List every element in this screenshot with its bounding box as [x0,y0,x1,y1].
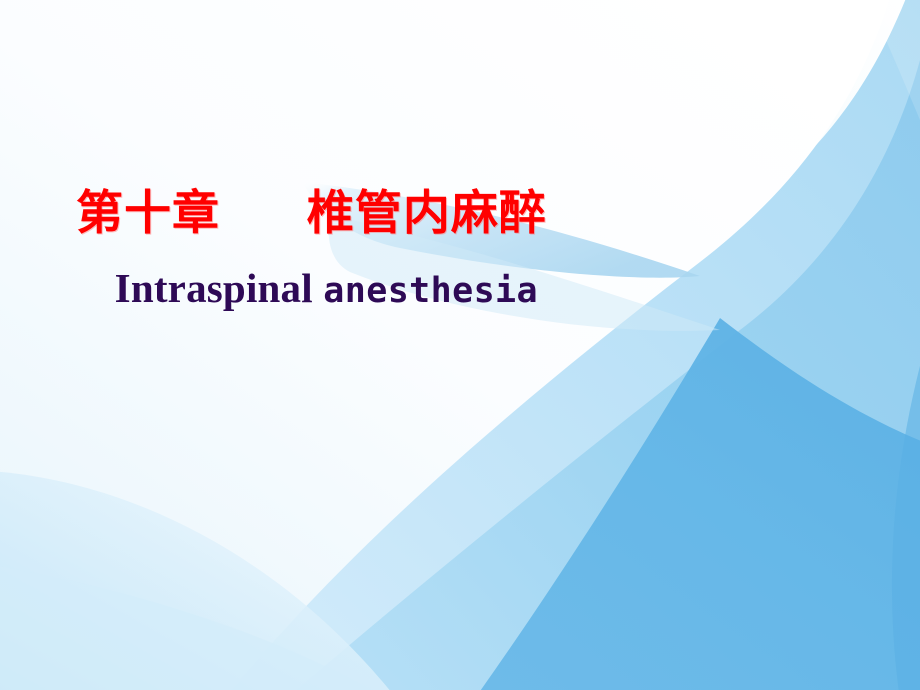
english-title-primary: Intraspinal [115,265,313,311]
chinese-title: 第十章 椎管内麻醉 [0,186,920,242]
english-title-space [313,265,323,311]
title-slide: 第十章 椎管内麻醉 Intraspinal anesthesia [0,0,920,690]
slide-background [0,0,920,690]
english-title-secondary: anesthesia [323,271,538,311]
title-block: 第十章 椎管内麻醉 Intraspinal anesthesia [0,186,920,328]
english-title: Intraspinal anesthesia [0,242,920,327]
